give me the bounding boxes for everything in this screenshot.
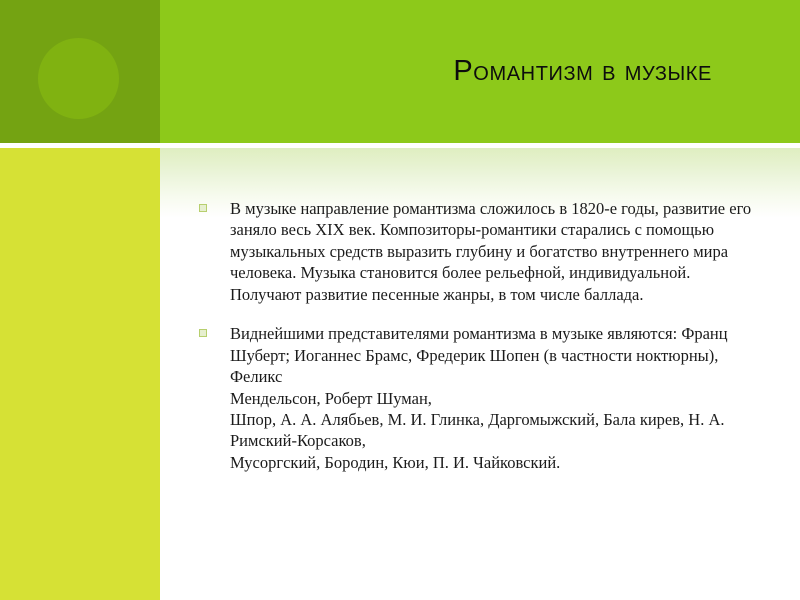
list-item-text: В музыке направление романтизма сложилос… <box>230 198 762 305</box>
list-item: В музыке направление романтизма сложилос… <box>192 198 762 305</box>
content-area: В музыке направление романтизма сложилос… <box>160 148 800 600</box>
presentation-slide: Романтизм в музыке В музыке направление … <box>0 0 800 600</box>
circle-shape-icon <box>38 38 119 119</box>
square-bullet-icon <box>199 329 207 337</box>
list-item: Виднейшими представителями романтизма в … <box>192 323 762 473</box>
bullet-list: В музыке направление романтизма сложилос… <box>192 198 762 491</box>
page-title: Романтизм в музыке <box>190 0 720 143</box>
yellow-green-block <box>0 148 160 600</box>
square-bullet-icon <box>199 204 207 212</box>
list-item-text: Виднейшими представителями романтизма в … <box>230 323 762 473</box>
dark-green-block <box>0 0 160 143</box>
